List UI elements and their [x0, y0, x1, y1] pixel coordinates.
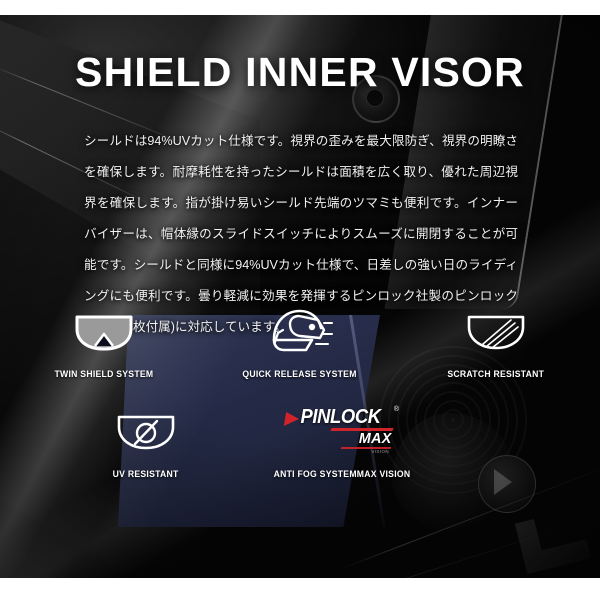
pinlock-max-logo-icon: PINLOCK ® MAX VISION [283, 400, 401, 462]
pinlock-max-wordmark: MAX [359, 430, 392, 447]
pinlock-trademark-symbol: ® [394, 406, 399, 413]
feature-scratch-resistant: SCRATCH RESISTANT [420, 300, 572, 380]
twin-shield-icon [73, 300, 135, 362]
pinlock-logo: PINLOCK ® MAX VISION [283, 404, 401, 458]
feature-twin-shield-system: TWIN SHIELD SYSTEM [28, 300, 180, 380]
feature-label: QUICK RELEASE SYSTEM [243, 369, 357, 380]
feature-row-1: TWIN SHIELD SYSTEM QUICK RELEASE SYSTEM [0, 300, 600, 380]
quick-release-helmet-icon [266, 300, 334, 362]
uv-resistant-visor-icon [115, 400, 177, 462]
feature-grid: TWIN SHIELD SYSTEM QUICK RELEASE SYSTEM [0, 300, 600, 480]
feature-label: ANTI FOG SYSTEMMAX VISION [274, 469, 411, 480]
scratch-resistant-visor-icon [465, 300, 527, 362]
feature-label: UV RESISTANT [113, 469, 179, 480]
product-feature-banner: SHIELD INNER VISOR シールドは94%UVカット仕様です。視界の… [0, 0, 600, 600]
feature-label: TWIN SHIELD SYSTEM [55, 369, 154, 380]
pinlock-arrow-icon [284, 412, 300, 426]
feature-uv-resistant: UV RESISTANT [70, 400, 222, 480]
feature-label: SCRATCH RESISTANT [448, 369, 545, 380]
feature-row-2: UV RESISTANT PINLOCK ® MAX VISION ANTI F… [0, 400, 600, 480]
feature-anti-fog-system: PINLOCK ® MAX VISION ANTI FOG SYSTEMMAX … [266, 400, 418, 480]
feature-quick-release-system: QUICK RELEASE SYSTEM [224, 300, 376, 380]
pinlock-wordmark: PINLOCK [300, 406, 380, 429]
pinlock-sub-text: VISION [371, 449, 389, 454]
page-title: SHIELD INNER VISOR [0, 52, 600, 93]
helmet-logo-mark [515, 508, 592, 574]
